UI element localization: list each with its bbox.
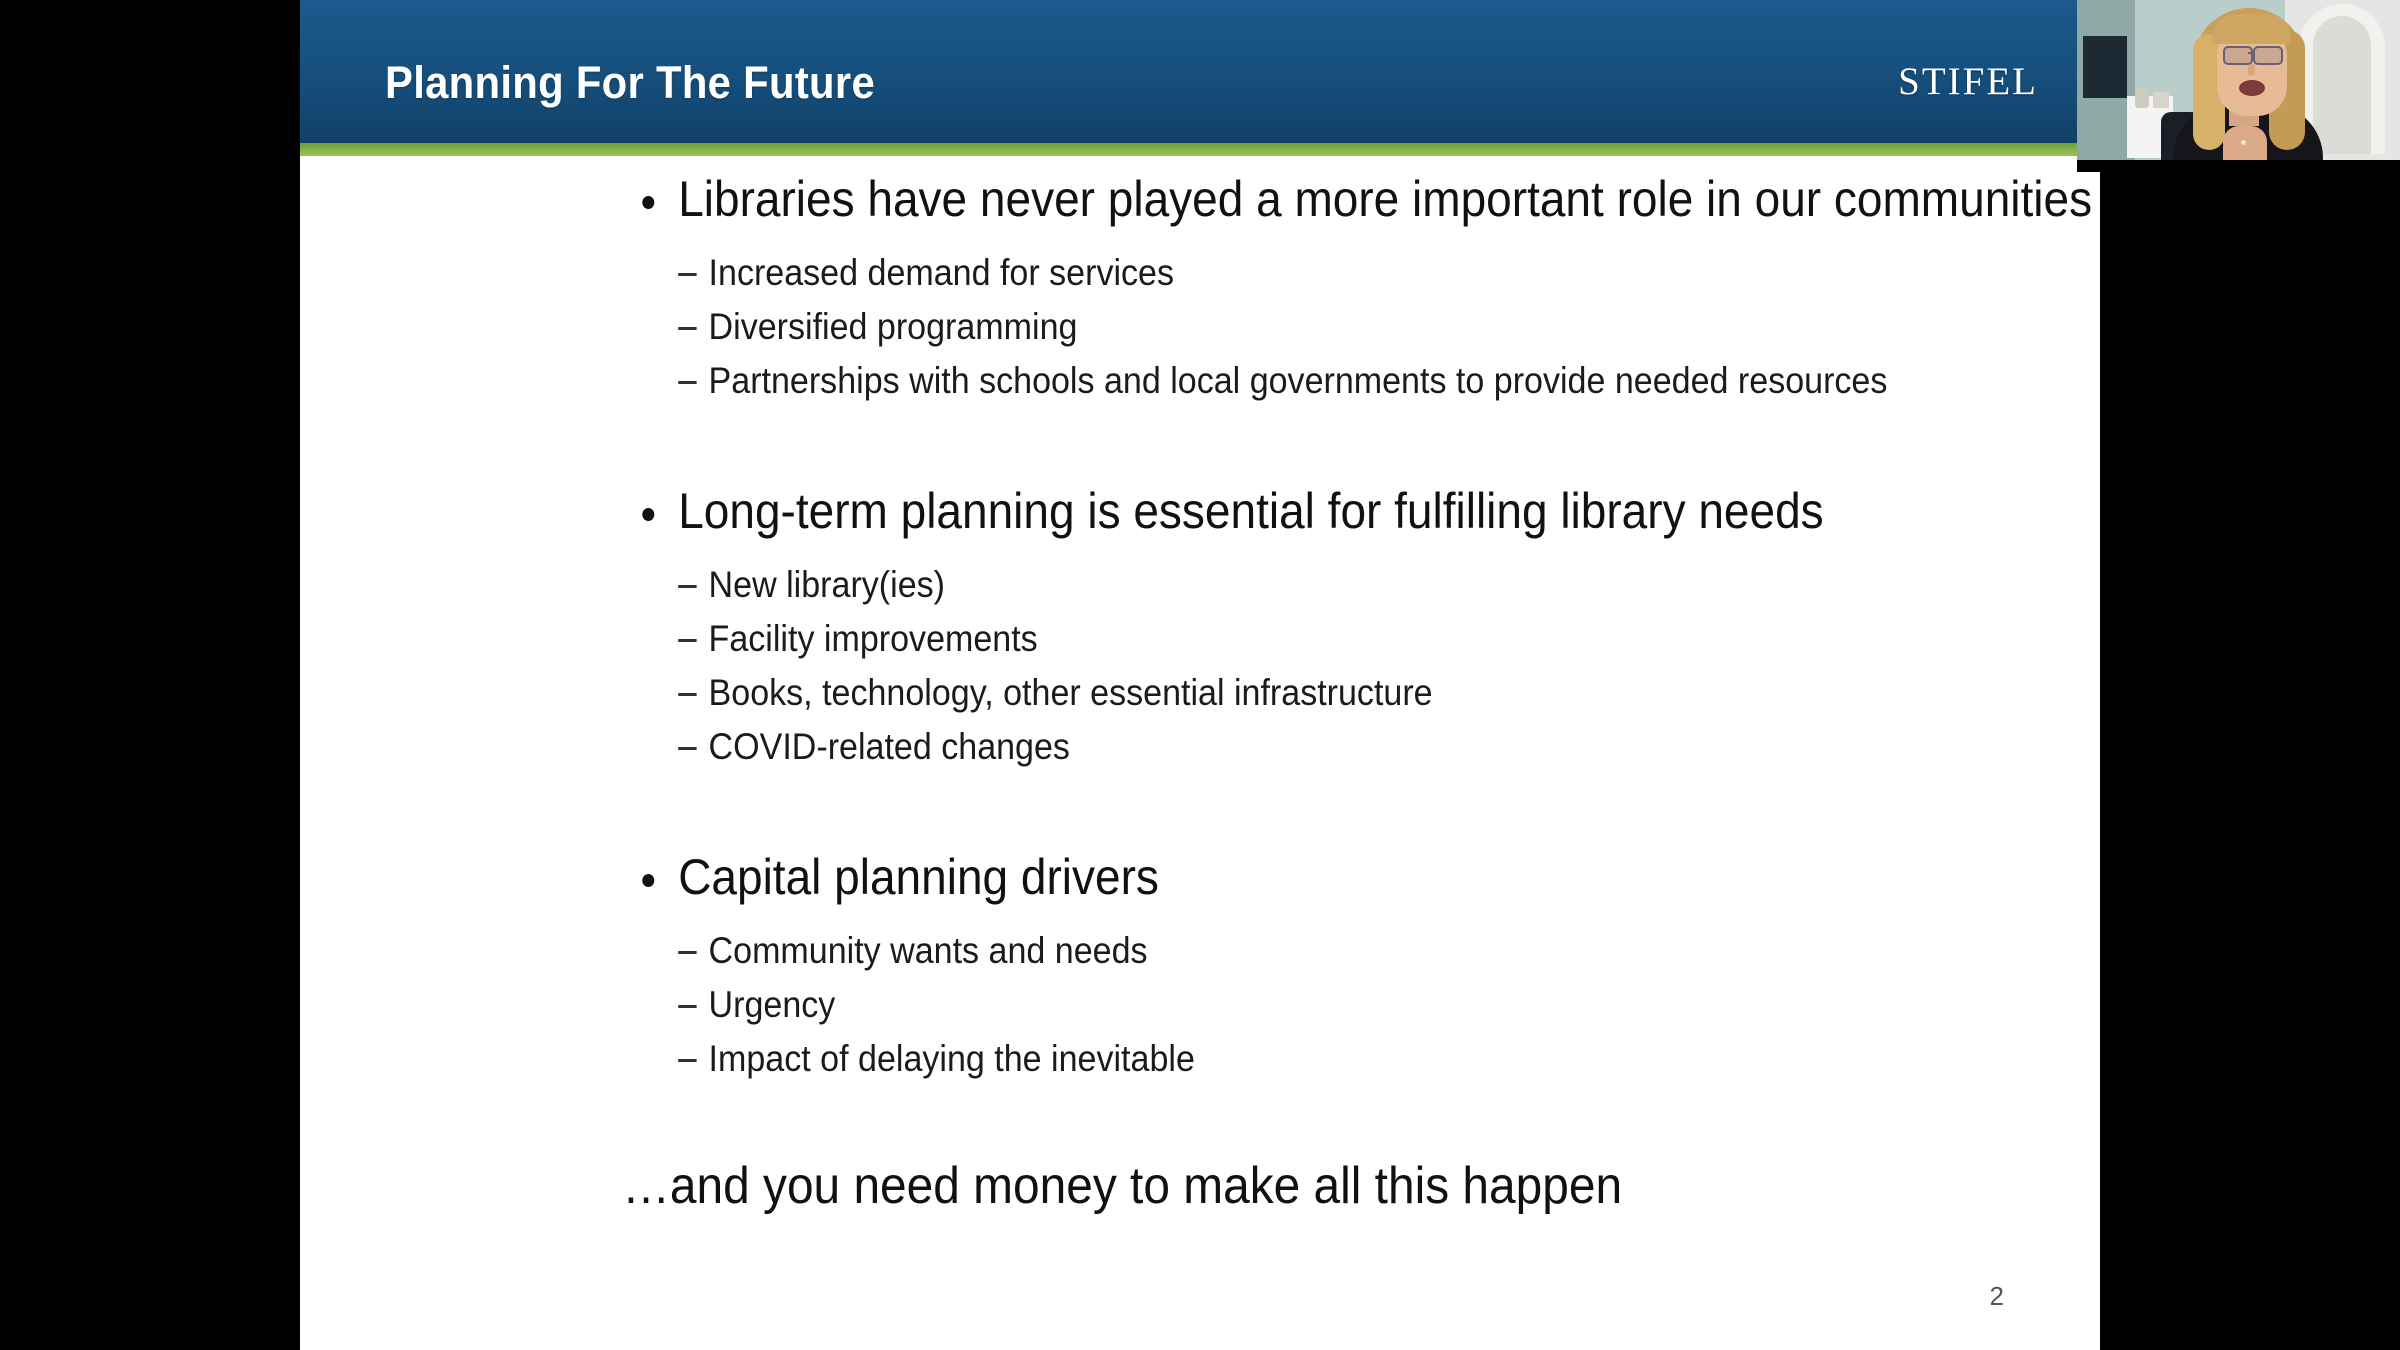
slide-header-bar: Planning For The Future Stifel [300,0,2100,143]
video-wall-picture [2083,36,2127,98]
sub-bullet-dash-icon [678,585,696,588]
sub-bullet: Partnerships with schools and local gove… [600,362,1887,401]
sub-bullet: Community wants and needs [600,932,1148,971]
sub-bullet-dash-icon [678,273,696,276]
bullet-heading: Libraries have never played a more impor… [600,174,2092,225]
presentation-slide: Planning For The Future Stifel Libraries… [300,0,2100,1350]
bullet-dot-icon [642,196,654,209]
sub-bullet-label: Facility improvements [709,618,1038,659]
video-letterbox-strip [2077,160,2400,172]
video-presenter-necklace [2241,140,2246,145]
bullet-heading-label: Capital planning drivers [678,849,1159,905]
sub-bullet-dash-icon [678,693,696,696]
sub-bullet-dash-icon [678,639,696,642]
sub-bullet-dash-icon [678,1059,696,1062]
sub-bullet-label: Impact of delaying the inevitable [709,1038,1195,1079]
sub-bullet-label: Partnerships with schools and local gove… [709,360,1888,401]
sub-bullet: Impact of delaying the inevitable [600,1040,1195,1079]
sub-bullet-label: Community wants and needs [709,930,1148,971]
slide-page-number: 2 [1990,1281,2004,1312]
sub-bullet-label: COVID-related changes [709,726,1070,767]
video-shelf-object [2135,88,2149,108]
sub-bullet: Books, technology, other essential infra… [600,674,1433,713]
sub-bullet-label: Books, technology, other essential infra… [709,672,1433,713]
sub-bullet-label: Urgency [709,984,836,1025]
sub-bullet-dash-icon [678,381,696,384]
video-presenter-nose [2248,64,2255,76]
closing-statement: …and you need money to make all this hap… [600,1156,1622,1216]
video-presenter-eyeglasses-bridge [2248,52,2255,54]
presenter-video-tile[interactable] [2077,0,2400,172]
video-shelf-object [2153,92,2169,108]
sub-bullet-label: Increased demand for services [709,252,1174,293]
video-doorway-inner [2313,16,2371,154]
stifel-logo: Stifel [1898,44,2038,108]
sub-bullet: Urgency [600,986,835,1025]
bullet-heading: Long-term planning is essential for fulf… [600,486,1824,537]
bullet-heading-label: Libraries have never played a more impor… [678,171,2092,227]
video-presenter-eyeglasses [2223,46,2253,65]
sub-bullet: COVID-related changes [600,728,1070,767]
sub-bullet: Diversified programming [600,308,1077,347]
sub-bullet-label: New library(ies) [709,564,945,605]
bullet-heading: Capital planning drivers [600,852,1159,903]
video-presenter-mouth [2239,80,2265,96]
bullet-dot-icon [642,508,654,521]
sub-bullet-dash-icon [678,1005,696,1008]
bullet-heading-label: Long-term planning is essential for fulf… [678,483,1823,539]
video-presenter-eyeglasses [2253,46,2283,65]
sub-bullet: Facility improvements [600,620,1038,659]
sub-bullet-label: Diversified programming [709,306,1078,347]
screen-share-frame: Planning For The Future Stifel Libraries… [0,0,2400,1350]
sub-bullet: Increased demand for services [600,254,1174,293]
page-title: Planning For The Future [385,57,875,109]
video-presenter-hair [2213,14,2291,44]
sub-bullet: New library(ies) [600,566,945,605]
bullet-dot-icon [642,874,654,887]
header-accent-divider [300,143,2100,156]
sub-bullet-dash-icon [678,327,696,330]
sub-bullet-dash-icon [678,951,696,954]
slide-body: Libraries have never played a more impor… [300,156,2100,1350]
sub-bullet-dash-icon [678,747,696,750]
